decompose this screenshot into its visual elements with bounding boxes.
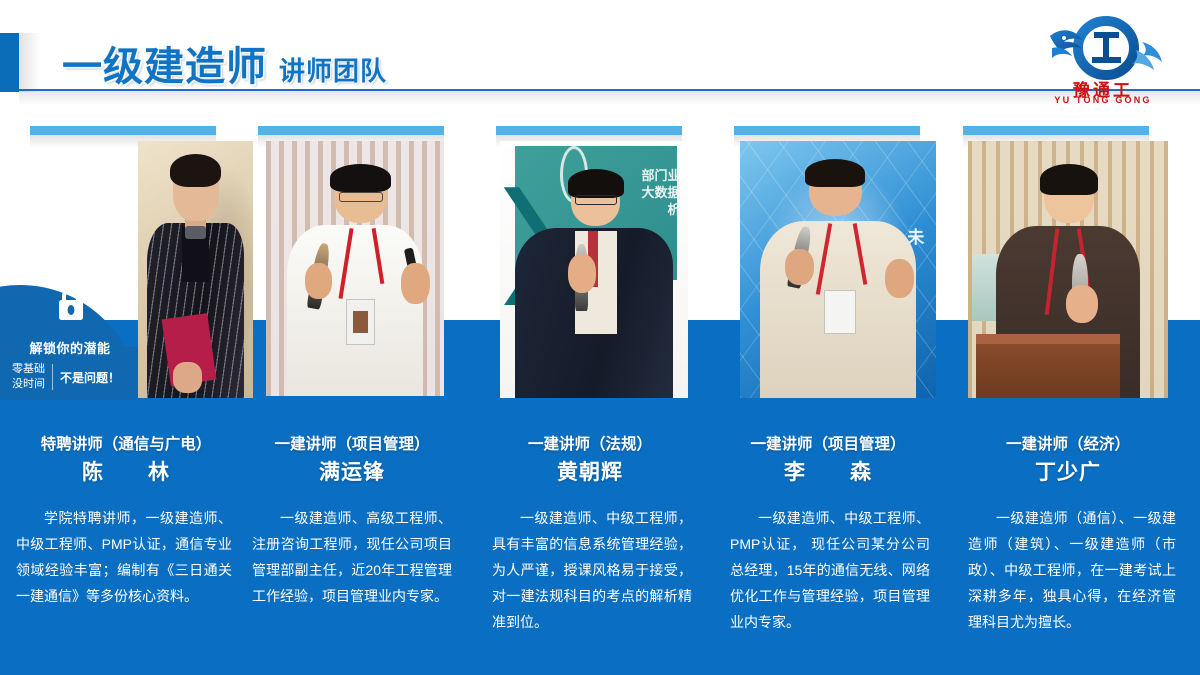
instructor-role-1: 特聘讲师（通信与广电） — [8, 432, 244, 454]
promo-sub-left-line2: 没时间 — [12, 377, 45, 392]
instructor-role-4: 一建讲师（项目管理） — [720, 432, 936, 454]
instructor-role-5: 一建讲师（经济） — [960, 432, 1176, 454]
promo-sub-left: 零基础 没时间 — [12, 362, 45, 392]
instructor-role-3: 一建讲师（法规） — [482, 432, 698, 454]
instructor-bio-5: 一级建造师（通信）、一级建造师（建筑）、一级建造师（市政）、中级工程师，在一建考… — [968, 505, 1176, 635]
photo-huang-zhaohui: 部门业 大数据 析 — [500, 141, 688, 398]
instructor-name-2: 满运锋 — [244, 456, 460, 486]
instructor-name-1: 陈 林 — [8, 456, 244, 486]
instructor-name-3: 黄朝辉 — [482, 456, 698, 486]
photo-ding-shaoguang — [968, 141, 1168, 398]
instructor-bio-1: 学院特聘讲师，一级建造师、中级工程师、PMP认证，通信专业领域经验丰富；编制有《… — [16, 505, 232, 609]
promo-sub-right: 不是问题！ — [60, 369, 120, 386]
card-top-bar-3 — [496, 126, 682, 135]
photo-li-sen: 未 — [740, 141, 936, 398]
card-top-bar-1 — [30, 126, 216, 135]
card-top-bar-5 — [963, 126, 1149, 135]
backdrop-text-3: 部门业 大数据 析 — [641, 167, 680, 218]
promo-headline: 解锁你的潜能 — [0, 338, 140, 357]
card-top-bar-2 — [258, 126, 444, 135]
promo-divider — [52, 364, 53, 390]
promo-subline: 零基础 没时间 不是问题！ — [12, 362, 142, 392]
instructor-role-2: 一建讲师（项目管理） — [244, 432, 460, 454]
instructor-bio-2: 一级建造师、高级工程师、注册咨询工程师，现任公司项目管理部副主任，近20年工程管… — [252, 505, 452, 609]
instructor-grid: 特聘讲师（通信与广电） 陈 林 学院特聘讲师，一级建造师、中级工程师、PMP认证… — [0, 0, 1200, 675]
slide-root: 一级建造师 讲师团队 豫通工 YU TONG GONG — [0, 0, 1200, 675]
instructor-bio-3: 一级建造师、中级工程师，具有丰富的信息系统管理经验，为人严谨，授课风格易于接受，… — [492, 505, 692, 635]
instructor-name-5: 丁少广 — [960, 456, 1176, 486]
card-top-bar-4 — [734, 126, 920, 135]
photo-man-yunfeng — [266, 141, 444, 396]
lock-icon — [56, 286, 86, 322]
photo-chen-lin — [138, 141, 253, 398]
instructor-name-4: 李 森 — [720, 456, 936, 486]
promo-sub-left-line1: 零基础 — [12, 362, 45, 377]
instructor-bio-4: 一级建造师、中级工程师、 PMP认证， 现任公司某分公司总经理，15年的通信无线… — [730, 505, 930, 635]
